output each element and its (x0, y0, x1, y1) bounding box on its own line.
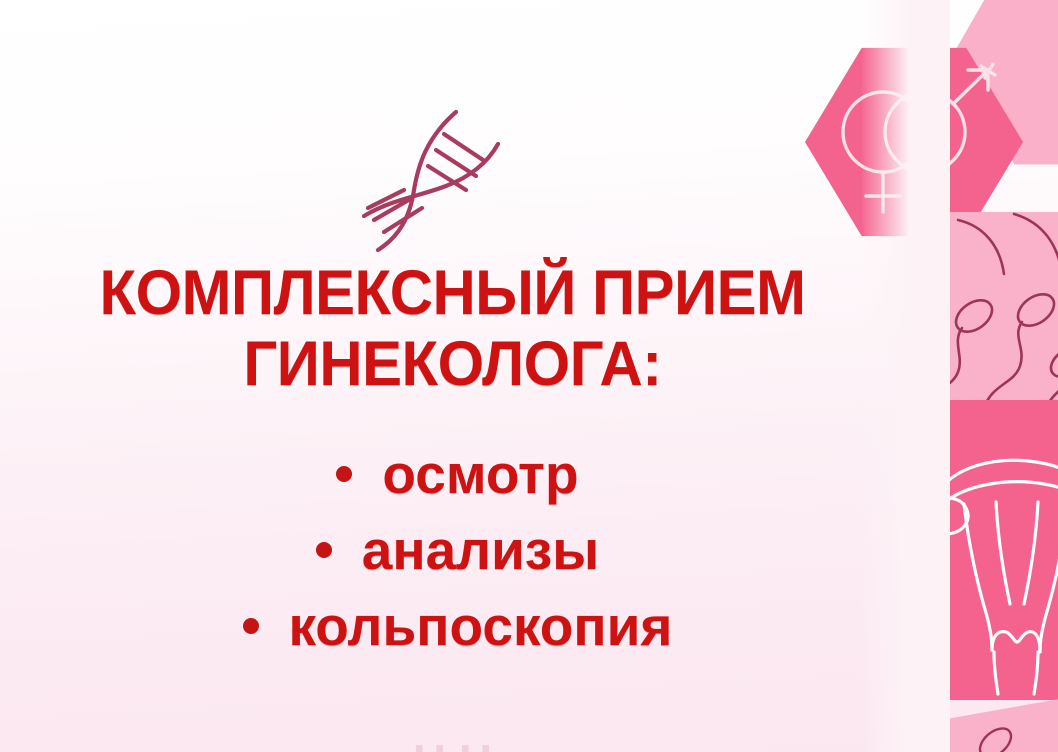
service-label: анализы (362, 523, 599, 578)
list-item: осмотр (0, 436, 915, 512)
uterus-icon (918, 400, 1058, 700)
panel-uterus-illustration (918, 400, 1058, 700)
title-line-2: ГИНЕКОЛОГА: (23, 329, 883, 400)
title-line-1: КОМПЛЕКСНЫЙ ПРИЕМ (23, 258, 883, 329)
poster-canvas: КОМПЛЕКСНЫЙ ПРИЕМ ГИНЕКОЛОГА: осмотр ана… (0, 0, 1058, 752)
page-title: КОМПЛЕКСНЫЙ ПРИЕМ ГИНЕКОЛОГА: (0, 258, 905, 400)
service-label: кольпоскопия (289, 599, 673, 654)
hexagon-gender-badge (805, 44, 1023, 240)
panel-sperm-illustration (918, 212, 1058, 412)
sperm-cells-icon (918, 212, 1058, 412)
list-item: кольпоскопия (0, 588, 915, 664)
list-item: анализы (0, 512, 915, 588)
bottom-decorative-shape (931, 692, 1058, 752)
clipped-bottom-text: Н Н (0, 738, 905, 752)
male-female-gender-symbols-icon (805, 44, 1023, 240)
bullet-dot-icon (316, 542, 332, 558)
bullet-dot-icon (336, 466, 352, 482)
sperm-cells-icon-small (931, 692, 1058, 752)
bullet-dot-icon (243, 618, 259, 634)
services-list: осмотр анализы кольпоскопия (0, 436, 915, 664)
dna-helix-icon (348, 104, 514, 254)
service-label: осмотр (382, 447, 578, 502)
